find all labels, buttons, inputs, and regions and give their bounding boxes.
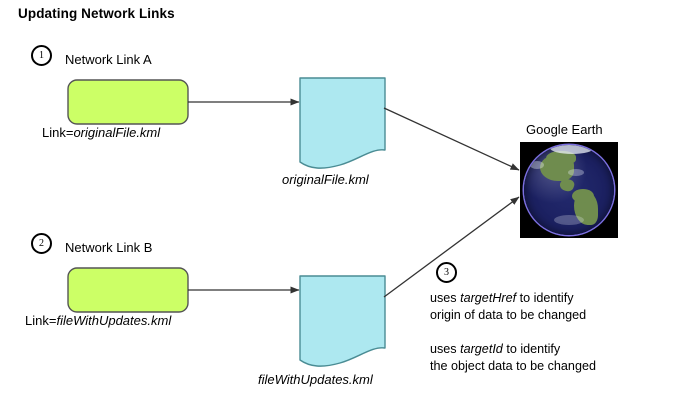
document-label-file-with-updates: fileWithUpdates.kml bbox=[258, 372, 373, 388]
arrow-file-with-updates-to-google-earth bbox=[384, 197, 519, 297]
annotation-note-change: uses targetId to identify the object dat… bbox=[430, 341, 596, 375]
link-prefix: Link= bbox=[42, 125, 73, 140]
google-earth-globe-icon bbox=[520, 142, 618, 238]
kml-attribute-name: targetHref bbox=[460, 291, 516, 305]
link-filename: originalFile.kml bbox=[73, 125, 160, 140]
step-badge-1: 1 bbox=[31, 45, 52, 66]
diagram-canvas: Updating Network Links 1 2 3 Network Lin… bbox=[0, 0, 688, 411]
landmass-central-america bbox=[558, 177, 575, 193]
document-label-original-file: originalFile.kml bbox=[282, 172, 369, 188]
page-title: Updating Network Links bbox=[18, 6, 175, 23]
arrow-original-file-to-google-earth bbox=[384, 108, 519, 170]
globe-sphere bbox=[524, 145, 614, 235]
network-link-b-link-label: Link=fileWithUpdates.kml bbox=[25, 313, 171, 329]
network-link-a-link-label: Link=originalFile.kml bbox=[42, 125, 160, 141]
cloud-band-south bbox=[554, 215, 584, 225]
link-filename: fileWithUpdates.kml bbox=[56, 313, 171, 328]
link-prefix: Link= bbox=[25, 313, 56, 328]
google-earth-label: Google Earth bbox=[526, 122, 603, 138]
cloud-band-mid bbox=[568, 169, 584, 176]
step-badge-2: 2 bbox=[31, 233, 52, 254]
network-link-b-title: Network Link B bbox=[65, 240, 152, 256]
kml-attribute-name: targetId bbox=[460, 342, 503, 356]
network-link-a-box bbox=[68, 80, 188, 124]
document-shape-original-file bbox=[300, 78, 385, 168]
cloud-band-left bbox=[530, 161, 544, 169]
landmass-south-america-north bbox=[572, 189, 594, 203]
annotation-note-update: uses targetHref to identify origin of da… bbox=[430, 290, 586, 324]
document-shape-file-with-updates bbox=[300, 276, 385, 366]
network-link-b-box bbox=[68, 268, 188, 312]
network-link-a-title: Network Link A bbox=[65, 52, 152, 68]
step-badge-3: 3 bbox=[436, 262, 457, 283]
